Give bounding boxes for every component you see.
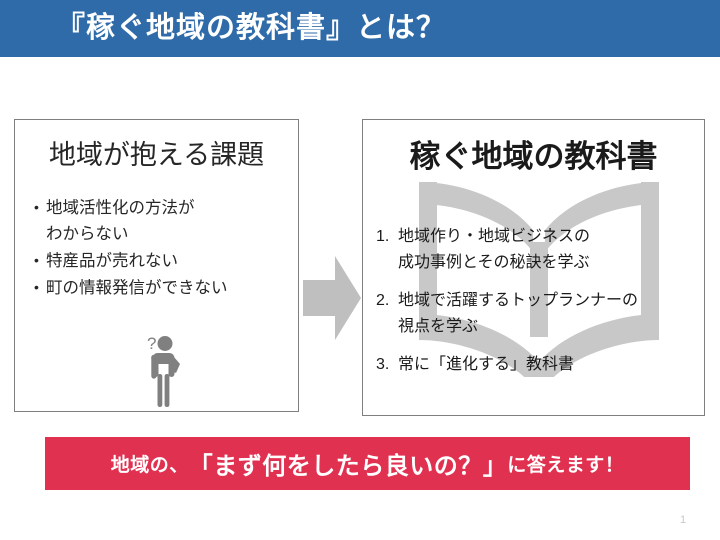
confused-person-icon: ?: [133, 332, 193, 410]
list-item-label: 町の情報発信ができない: [46, 275, 292, 301]
list-item: 2. 地域で活躍するトップランナーの 視点を学ぶ: [376, 288, 698, 339]
cta-suffix-text: に答えます！: [507, 450, 624, 477]
list-item-number: 1.: [376, 224, 398, 250]
list-item-label: 地域で活躍するトップランナーの 視点を学ぶ: [398, 288, 698, 339]
cta-prefix-text: 地域の、: [111, 450, 189, 477]
list-item: 1. 地域作り・地域ビジネスの 成功事例とその秘訣を学ぶ: [376, 224, 698, 275]
list-item: • 地域活性化の方法が わからない: [27, 195, 292, 247]
slide-header-banner: 『稼ぐ地域の教科書』とは？: [0, 0, 720, 57]
textbook-numbered-list: 1. 地域作り・地域ビジネスの 成功事例とその秘訣を学ぶ 2. 地域で活躍するト…: [376, 224, 698, 391]
list-item-number: 2.: [376, 288, 398, 314]
right-arrow-icon: [303, 256, 361, 340]
list-item: 3. 常に「進化する」教科書: [376, 352, 698, 378]
page-number: 1: [668, 514, 698, 526]
list-item-label: 常に「進化する」教科書: [398, 352, 698, 378]
list-item-label: 地域活性化の方法が わからない: [46, 195, 292, 247]
list-item: • 特産品が売れない: [27, 248, 292, 274]
textbook-panel-title: 稼ぐ地域の教科書: [363, 131, 704, 176]
problems-panel-title: 地域が抱える課題: [15, 133, 298, 172]
cta-emphasis-text: 「まず何をしたら良いの？」: [189, 446, 508, 481]
list-item-number: 3.: [376, 352, 398, 378]
problems-panel: 地域が抱える課題 • 地域活性化の方法が わからない • 特産品が売れない • …: [14, 119, 299, 412]
list-item-label: 特産品が売れない: [46, 248, 292, 274]
list-item-label: 地域作り・地域ビジネスの 成功事例とその秘訣を学ぶ: [398, 224, 698, 275]
bullet-dot-icon: •: [27, 248, 46, 272]
bullet-dot-icon: •: [27, 275, 46, 299]
list-item: • 町の情報発信ができない: [27, 275, 292, 301]
call-to-action-banner: 地域の、 「まず何をしたら良いの？」 に答えます！: [45, 437, 690, 490]
problems-bullet-list: • 地域活性化の方法が わからない • 特産品が売れない • 町の情報発信ができ…: [27, 195, 292, 302]
bullet-dot-icon: •: [27, 195, 46, 219]
textbook-panel: 稼ぐ地域の教科書 1. 地域作り・地域ビジネスの 成功事例とその秘訣を学ぶ 2.…: [362, 119, 705, 416]
svg-text:?: ?: [147, 334, 156, 353]
page-title: 『稼ぐ地域の教科書』とは？: [56, 0, 446, 57]
